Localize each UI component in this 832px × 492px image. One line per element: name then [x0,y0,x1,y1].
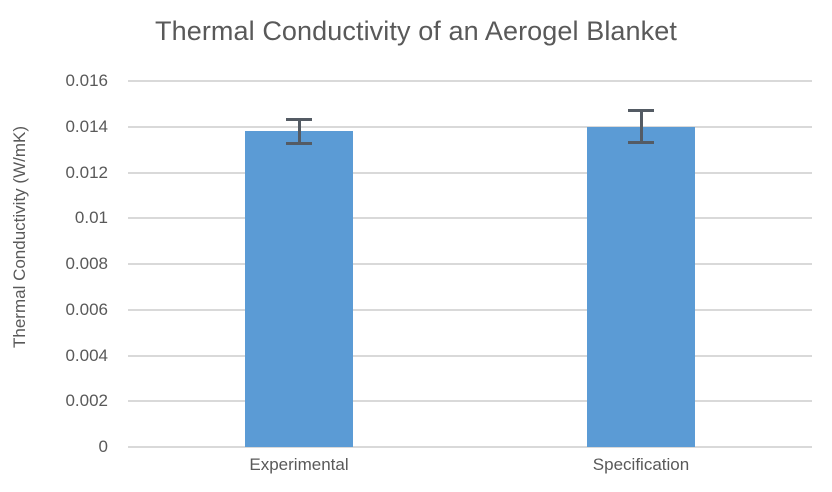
y-axis-tick-label: 0.002 [0,391,118,411]
x-axis-tick-labels: ExperimentalSpecification [128,455,812,485]
gridline [128,446,812,448]
y-axis-tick-label: 0.01 [0,208,118,228]
error-bar-cap-bottom [286,142,312,145]
chart-container: Thermal Conductivity of an Aerogel Blank… [0,0,832,492]
chart-title: Thermal Conductivity of an Aerogel Blank… [0,16,832,47]
gridline [128,355,812,357]
bar-experimental[interactable] [245,131,353,447]
y-axis-tick-label: 0 [0,437,118,457]
plot-area [128,81,812,447]
y-axis-tick-label: 0.014 [0,117,118,137]
y-axis-tick-label: 0.012 [0,163,118,183]
error-bar-specification [628,109,654,144]
y-axis-tick-label: 0.006 [0,300,118,320]
gridline [128,80,812,82]
gridline [128,400,812,402]
error-bar-stem [298,118,301,145]
error-bar-stem [640,109,643,144]
gridline [128,126,812,128]
y-axis-tick-label: 0.016 [0,71,118,91]
gridline [128,309,812,311]
y-axis-tick-label: 0.004 [0,346,118,366]
error-bar-cap-bottom [628,141,654,144]
gridline [128,263,812,265]
gridline [128,217,812,219]
x-axis-tick-label: Experimental [249,455,348,475]
x-axis-tick-label: Specification [593,455,689,475]
bar-specification[interactable] [587,127,695,447]
y-axis-tick-label: 0.008 [0,254,118,274]
error-bar-experimental [286,118,312,145]
gridline [128,172,812,174]
